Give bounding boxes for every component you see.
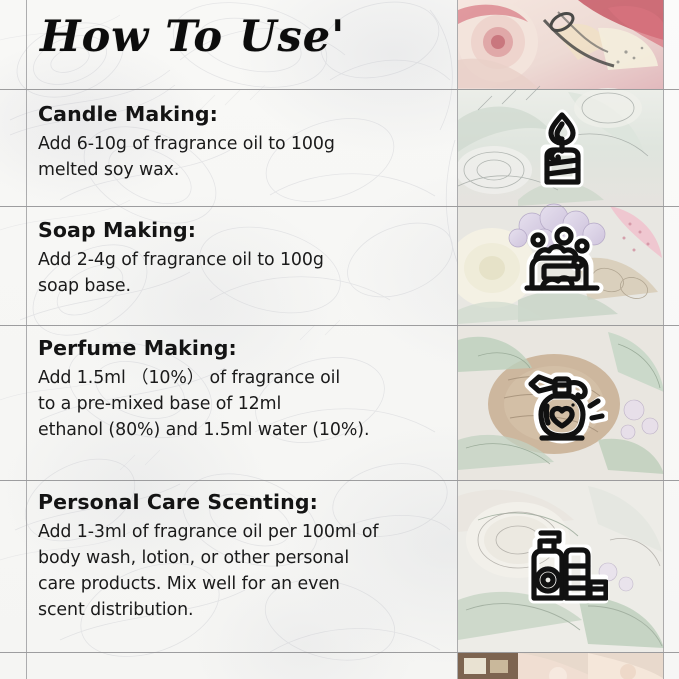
body-line: ethanol (80%) and 1.5ml water (10%).: [38, 418, 448, 444]
candle-icon: [516, 102, 608, 194]
body-line: care products. Mix well for an even: [38, 572, 448, 598]
page-title: How To Use': [40, 12, 345, 62]
body-line: melted soy wax.: [38, 158, 448, 184]
section-perfume-making: Perfume Making: Add 1.5ml （10%） of fragr…: [38, 336, 448, 444]
divider-bottom: [0, 652, 679, 653]
section-body-personal-care: Add 1-3ml of fragrance oil per 100ml of …: [38, 520, 448, 624]
body-line: Add 2-4g of fragrance oil to 100g: [38, 248, 448, 274]
section-heading-perfume: Perfume Making:: [38, 336, 448, 360]
divider-title: [0, 89, 679, 90]
body-line: Add 1.5ml （10%） of fragrance oil: [38, 366, 448, 392]
body-line: body wash, lotion, or other personal: [38, 546, 448, 572]
section-candle-making: Candle Making: Add 6-10g of fragrance oi…: [38, 102, 448, 184]
personal-care-products-icon: [516, 518, 608, 610]
body-line: to a pre-mixed base of 12ml: [38, 392, 448, 418]
section-body-perfume: Add 1.5ml （10%） of fragrance oil to a pr…: [38, 366, 448, 444]
divider-candle-soap: [0, 206, 679, 207]
body-line: Add 6-10g of fragrance oil to 100g: [38, 132, 448, 158]
left-margin-rule: [26, 0, 27, 679]
section-body-soap: Add 2-4g of fragrance oil to 100g soap b…: [38, 248, 448, 300]
divider-soap-perfume: [0, 325, 679, 326]
section-personal-care-scenting: Personal Care Scenting: Add 1-3ml of fra…: [38, 490, 448, 624]
divider-perfume-personal: [0, 480, 679, 481]
body-line: Add 1-3ml of fragrance oil per 100ml of: [38, 520, 448, 546]
section-soap-making: Soap Making: Add 2-4g of fragrance oil t…: [38, 218, 448, 300]
section-heading-soap: Soap Making:: [38, 218, 448, 242]
section-body-candle: Add 6-10g of fragrance oil to 100g melte…: [38, 132, 448, 184]
perfume-bottle-icon: [516, 358, 608, 450]
section-heading-candle: Candle Making:: [38, 102, 448, 126]
right-paper-margin: [664, 0, 679, 679]
soap-bar-icon: [516, 222, 608, 314]
strip-right-rule: [663, 0, 664, 679]
strip-left-rule: [457, 0, 458, 679]
section-heading-personal-care: Personal Care Scenting:: [38, 490, 448, 514]
body-line: soap base.: [38, 274, 448, 300]
body-line: scent distribution.: [38, 598, 448, 624]
how-to-use-infographic: How To Use' Candle Making: Add 6-10g of …: [0, 0, 679, 679]
